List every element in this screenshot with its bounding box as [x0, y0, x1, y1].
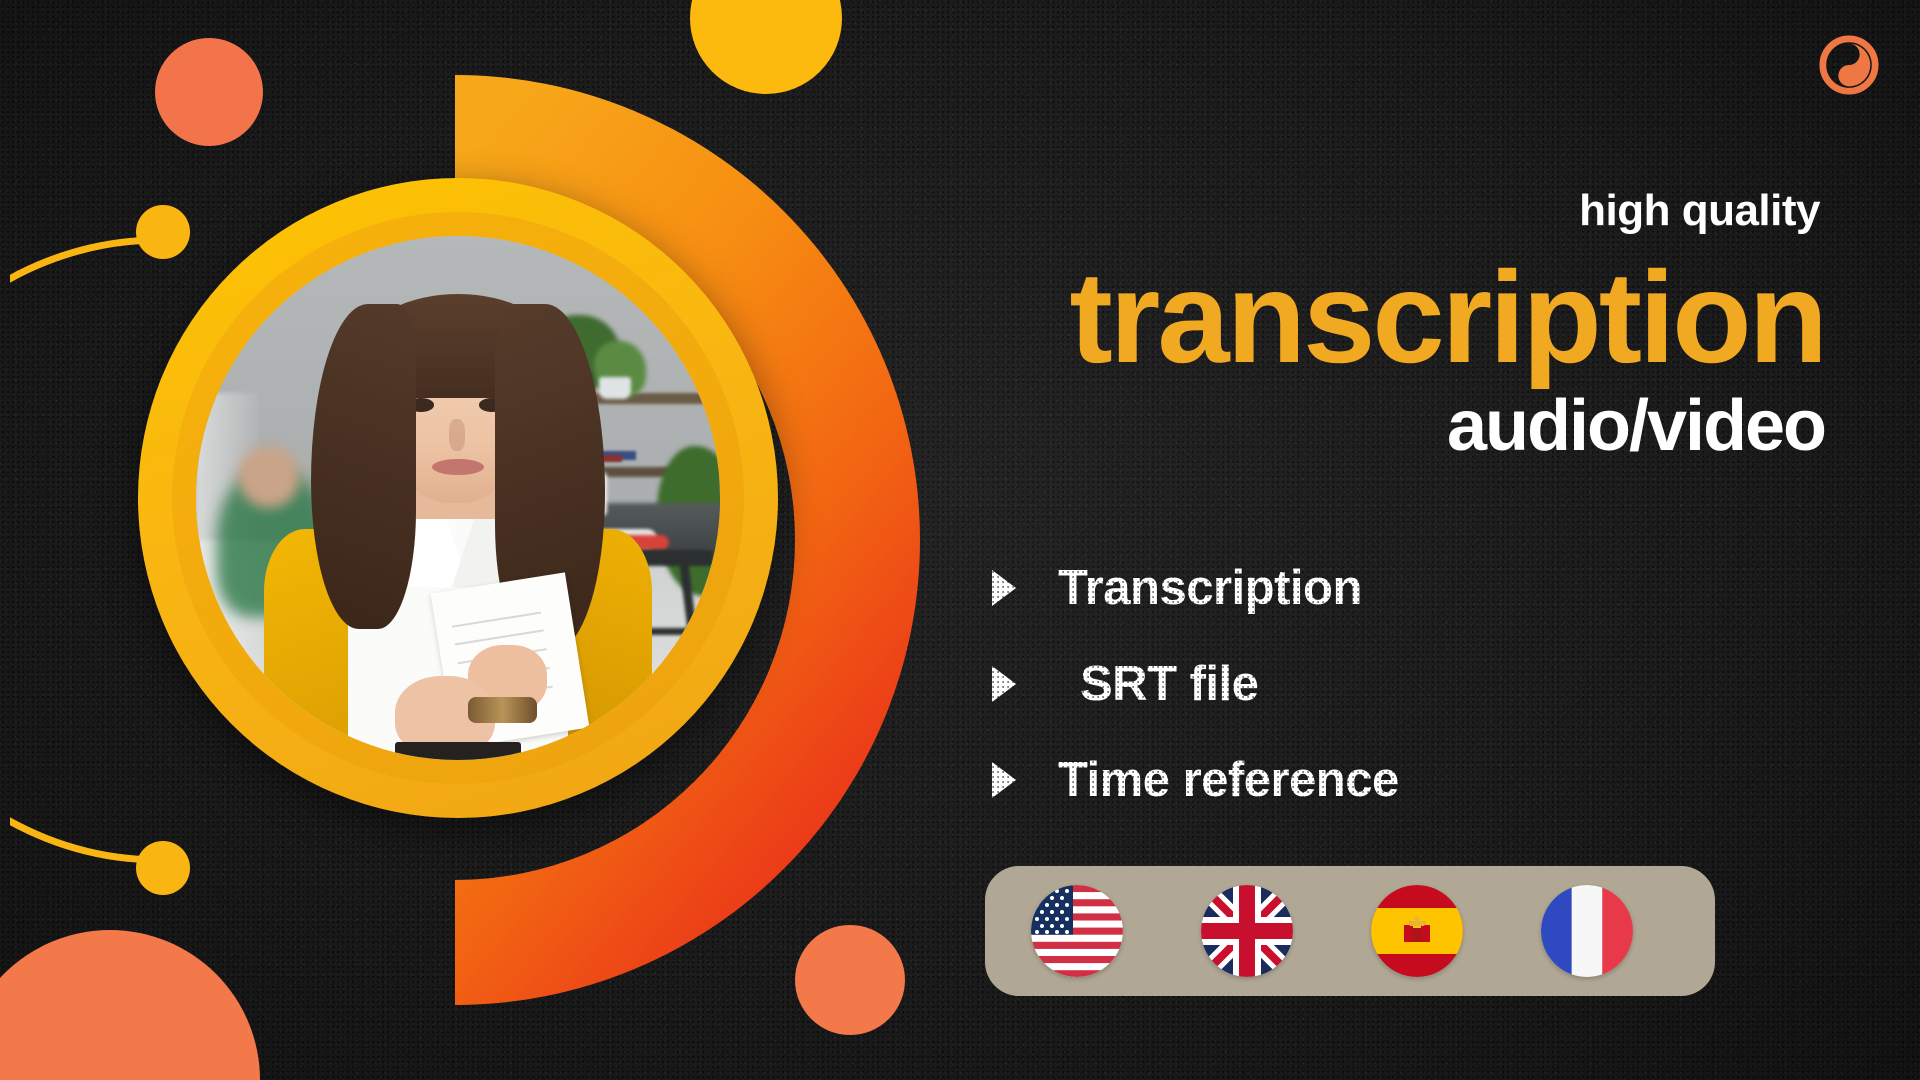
flag-united-states-icon	[1031, 885, 1123, 977]
eyebrow-text: high quality	[1579, 186, 1820, 236]
flag-france-icon	[1541, 885, 1633, 977]
page-title: transcription	[1069, 252, 1825, 382]
flag-spain-icon	[1371, 885, 1463, 977]
brand-swirl-logo-icon[interactable]	[1818, 34, 1880, 96]
subtitle-text: audio/video	[1447, 390, 1825, 462]
promo-banner: high quality transcription audio/video T…	[0, 0, 1920, 1080]
language-flags-bar	[985, 866, 1715, 996]
flag-united-kingdom-icon	[1201, 885, 1293, 977]
